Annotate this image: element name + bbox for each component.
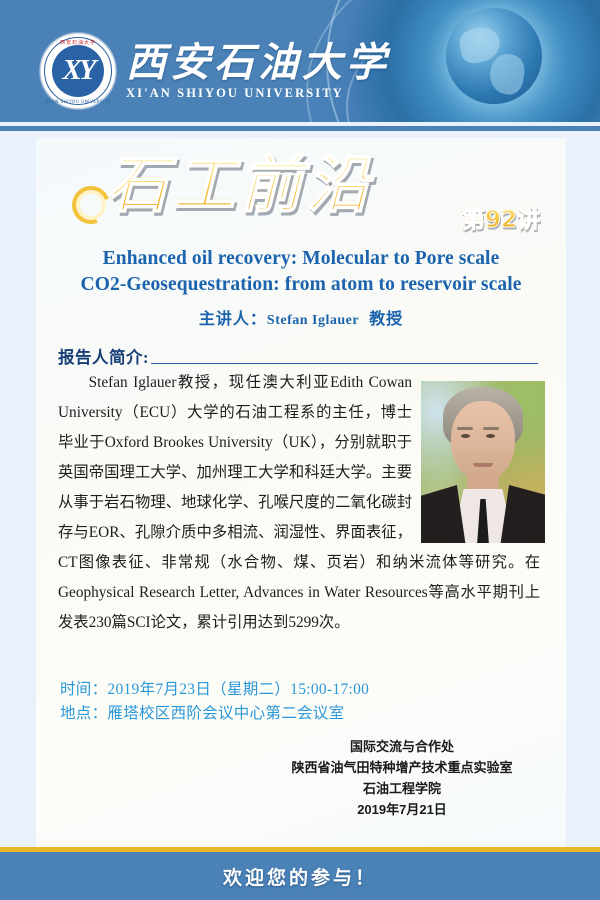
event-place: 地点：雁塔校区西阶会议中心第二会议室	[60, 702, 530, 726]
seal-monogram: XY	[41, 56, 115, 85]
poster: 西安石油大学 XY XI'AN SHIYOU UNIVERSITY 西安石油大学…	[0, 0, 600, 900]
speaker-rank: 教授	[369, 311, 403, 328]
footer-text: 欢迎您的参与！	[223, 863, 377, 890]
bio-heading-text: 报告人简介:	[58, 344, 149, 368]
signature-line-2: 陕西省油气田特种增产技术重点实验室	[252, 757, 552, 778]
wordmark-english: XI'AN SHIYOU UNIVERSITY	[126, 86, 390, 101]
signature-date: 2019年7月21日	[252, 799, 552, 820]
signature-line-3: 石油工程学院	[252, 778, 552, 799]
masthead: 石工前沿 第92讲	[36, 150, 566, 242]
wordmark: 西安石油大学 XI'AN SHIYOU UNIVERSITY	[126, 42, 390, 101]
talk-title: Enhanced oil recovery: Molecular to Pore…	[36, 246, 566, 298]
signature-block: 国际交流与合作处 陕西省油气田特种增产技术重点实验室 石油工程学院 2019年7…	[252, 736, 552, 820]
speaker-line: 主讲人：Stefan Iglauer 教授	[36, 305, 566, 329]
footer-banner: 欢迎您的参与！	[0, 852, 600, 900]
photo-text-wrap-spacer	[412, 368, 540, 546]
header-divider-rule	[0, 126, 600, 131]
talk-title-line2: CO2-Geosequestration: from atom to reser…	[36, 272, 566, 298]
speaker-label: 主讲人：	[199, 311, 267, 328]
bio-body: Stefan Iglauer教授，现任澳大利亚Edith Cowan Unive…	[58, 368, 540, 638]
bio-heading-underline	[151, 363, 538, 364]
signature-line-1: 国际交流与合作处	[252, 736, 552, 757]
header-banner: 西安石油大学 XY XI'AN SHIYOU UNIVERSITY 西安石油大学…	[0, 0, 600, 122]
issue-number: 第92讲	[462, 200, 540, 234]
wordmark-chinese: 西安石油大学	[126, 42, 390, 84]
talk-title-line1: Enhanced oil recovery: Molecular to Pore…	[36, 246, 566, 272]
seal-bottom-text: XI'AN SHIYOU UNIVERSITY	[41, 99, 115, 104]
university-seal-icon: 西安石油大学 XY XI'AN SHIYOU UNIVERSITY	[40, 33, 116, 109]
globe-icon	[446, 8, 542, 104]
event-time: 时间：2019年7月23日（星期二）15:00-17:00	[60, 678, 530, 702]
event-meta: 时间：2019年7月23日（星期二）15:00-17:00 地点：雁塔校区西阶会…	[60, 678, 530, 726]
series-title: 石工前沿	[106, 148, 374, 226]
speaker-name: Stefan Iglauer	[267, 313, 359, 328]
bio-heading: 报告人简介:	[58, 344, 538, 368]
university-logo: 西安石油大学 XY XI'AN SHIYOU UNIVERSITY 西安石油大学…	[40, 33, 390, 109]
